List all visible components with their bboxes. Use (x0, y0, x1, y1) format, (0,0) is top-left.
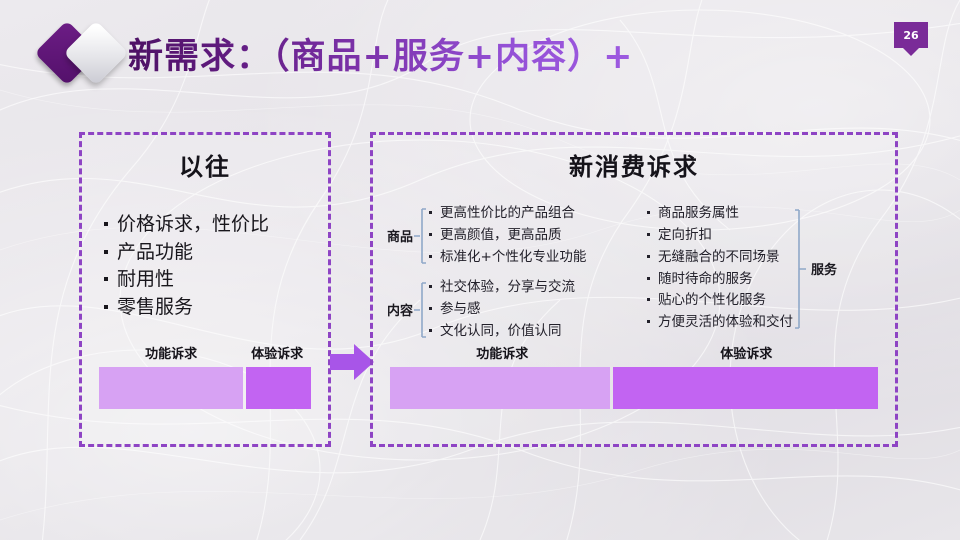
list-item: 标准化+个性化专业功能 (429, 247, 586, 269)
old-bullet-list: 价格诉求，性价比 产品功能 耐用性 零售服务 (104, 211, 269, 322)
list-item: 定向折扣 (647, 225, 793, 247)
bar-functional (390, 367, 610, 409)
list-item: 随时待命的服务 (647, 269, 793, 291)
badge-pointer-icon (903, 48, 919, 56)
chart-new-labels: 功能诉求 体验诉求 (390, 343, 878, 363)
group-content-label: 内容 (387, 300, 413, 319)
list-item: 社交体验，分享与交流 (429, 277, 575, 299)
chart-new-bars (390, 367, 878, 409)
slide-canvas: 新需求：（商品+服务+内容）+ 26 以往 价格诉求，性价比 产品功能 耐用性 … (0, 0, 960, 540)
group-content: 内容 社交体验，分享与交流 参与感 文化认同，价值认同 (387, 277, 575, 343)
group-goods-items: 更高性价比的产品组合 更高颜值，更高品质 标准化+个性化专业功能 (429, 203, 586, 269)
bar-label-functional: 功能诉求 (476, 343, 528, 362)
page-number-badge: 26 (894, 22, 928, 48)
group-content-items: 社交体验，分享与交流 参与感 文化认同，价值认同 (429, 277, 575, 343)
list-item: 无缝融合的不同场景 (647, 247, 793, 269)
bar-functional (99, 367, 243, 409)
panel-old-title: 以往 (82, 147, 328, 182)
list-item: 产品功能 (104, 239, 269, 267)
panel-new-title: 新消费诉求 (373, 147, 895, 182)
bar-label-experience: 体验诉求 (251, 343, 303, 362)
bar-label-functional: 功能诉求 (145, 343, 197, 362)
brace-left-icon (413, 207, 429, 265)
page-title: 新需求：（商品+服务+内容）+ (128, 28, 633, 79)
list-item: 商品服务属性 (647, 203, 793, 225)
list-item: 耐用性 (104, 266, 269, 294)
chart-old: 功能诉求 体验诉求 (99, 343, 311, 409)
chart-new: 功能诉求 体验诉求 (390, 343, 878, 409)
list-item: 价格诉求，性价比 (104, 211, 269, 239)
list-item: 零售服务 (104, 294, 269, 322)
panel-new: 新消费诉求 商品 更高性价比的产品组合 更高颜值，更高品质 标准化+个性化专业功… (370, 132, 898, 447)
bar-label-experience: 体验诉求 (720, 343, 772, 362)
list-item: 更高性价比的产品组合 (429, 203, 586, 225)
list-item: 贴心的个性化服务 (647, 290, 793, 312)
chart-old-bars (99, 367, 311, 409)
group-service-label: 服务 (811, 259, 837, 278)
panel-old: 以往 价格诉求，性价比 产品功能 耐用性 零售服务 功能诉求 体验诉求 (79, 132, 331, 447)
list-item: 更高颜值，更高品质 (429, 225, 586, 247)
page-number-text: 26 (903, 29, 918, 42)
bar-experience (613, 367, 878, 409)
bar-experience (246, 367, 311, 409)
brace-right-icon (793, 208, 811, 330)
group-goods-label: 商品 (387, 226, 413, 245)
list-item: 参与感 (429, 299, 575, 321)
group-service-items: 商品服务属性 定向折扣 无缝融合的不同场景 随时待命的服务 贴心的个性化服务 方… (647, 203, 793, 334)
twin-diamond-logo (40, 22, 136, 86)
brace-left-icon (413, 281, 429, 339)
transition-arrow (330, 343, 374, 381)
list-item: 文化认同，价值认同 (429, 321, 575, 343)
group-goods: 商品 更高性价比的产品组合 更高颜值，更高品质 标准化+个性化专业功能 (387, 203, 586, 269)
list-item: 方便灵活的体验和交付 (647, 312, 793, 334)
group-service: 商品服务属性 定向折扣 无缝融合的不同场景 随时待命的服务 贴心的个性化服务 方… (647, 203, 837, 334)
chart-old-labels: 功能诉求 体验诉求 (99, 343, 311, 363)
